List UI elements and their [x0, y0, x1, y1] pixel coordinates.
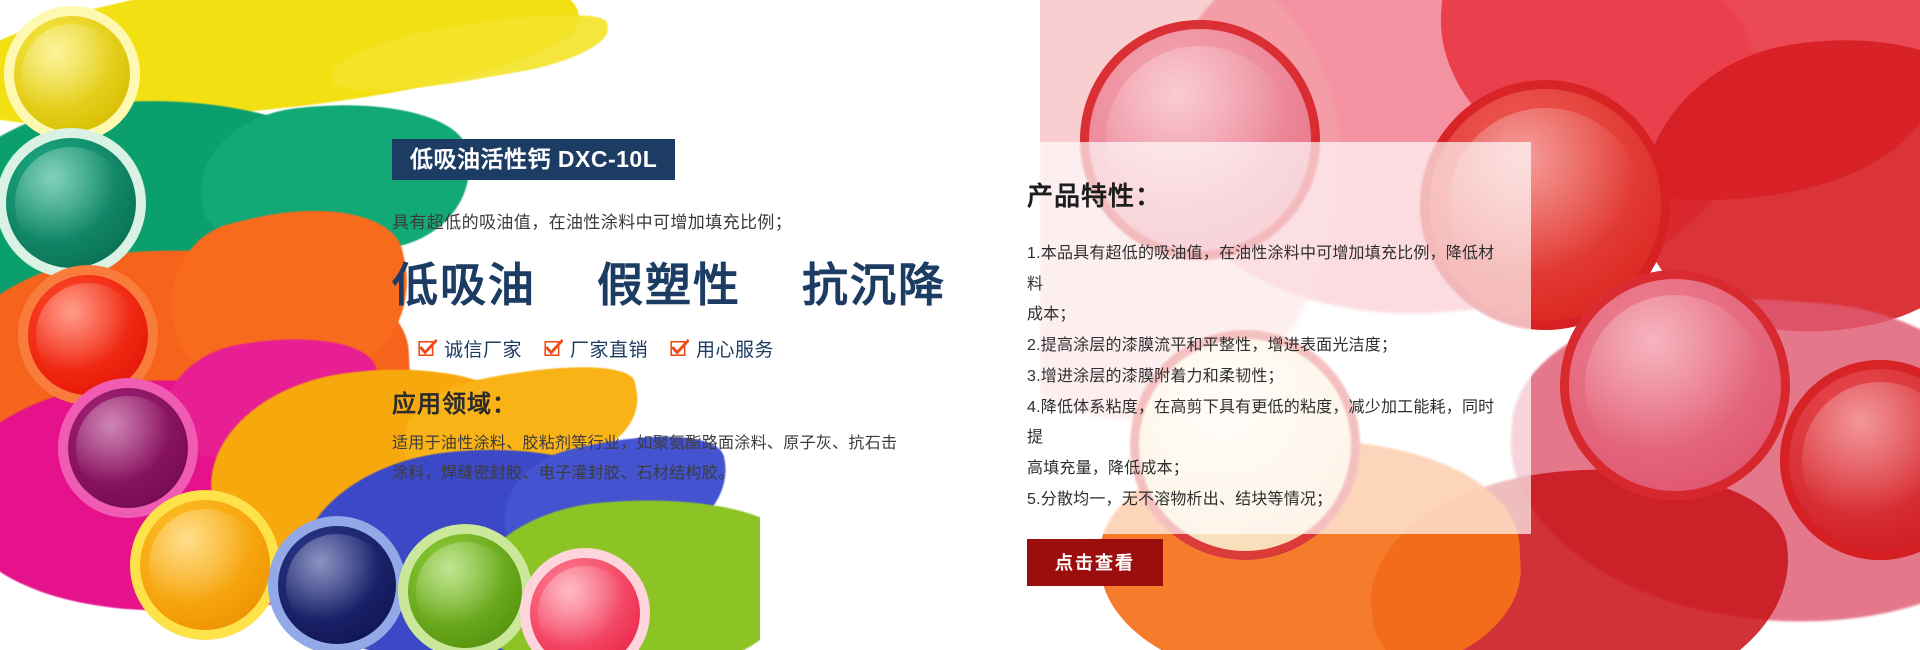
panel-list-item: 4.降低体系粘度，在高剪下具有更低的粘度，减少加工能耗，同时提	[1027, 393, 1495, 454]
panel-list-item: 1.本品具有超低的吸油值，在油性涂料中可增加填充比例，降低材料	[1027, 239, 1495, 300]
product-headline: 低吸油 假塑性 抗沉降	[392, 249, 952, 315]
check-box-icon	[544, 339, 563, 358]
paint-can-red	[28, 275, 148, 395]
product-title-badge: 低吸油活性钙 DXC-10L	[392, 139, 675, 180]
product-copy-block: 低吸油活性钙 DXC-10L 具有超低的吸油值，在油性涂料中可增加填充比例； 低…	[392, 139, 952, 488]
trust-feature-label: 诚信厂家	[444, 335, 522, 362]
headline-part-1: 低吸油	[392, 260, 536, 311]
product-features-panel: 产品特性： 1.本品具有超低的吸油值，在油性涂料中可增加填充比例，降低材料 成本…	[989, 142, 1531, 534]
product-banner: 低吸油活性钙 DXC-10L 具有超低的吸油值，在油性涂料中可增加填充比例； 低…	[0, 0, 1920, 650]
trust-feature-label: 厂家直销	[570, 335, 648, 362]
paint-can-amber	[140, 500, 270, 630]
trust-feature-item: 用心服务	[670, 335, 774, 362]
application-section-title: 应用领域：	[392, 384, 952, 419]
application-section-body: 适用于油性涂料、胶粘剂等行业，如聚氨酯路面涂料、原子灰、抗石击 涂料，焊缝密封胶…	[392, 429, 902, 488]
panel-list-item: 3.增进涂层的漆膜附着力和柔韧性；	[1027, 362, 1495, 393]
paint-can-yellow	[14, 16, 130, 132]
panel-title: 产品特性：	[1027, 176, 1495, 213]
headline-part-3: 抗沉降	[802, 260, 946, 311]
application-line-1: 适用于油性涂料、胶粘剂等行业，如聚氨酯路面涂料、原子灰、抗石击	[392, 429, 902, 459]
paint-can-green	[6, 138, 136, 268]
trust-feature-label: 用心服务	[696, 335, 774, 362]
application-line-2: 涂料，焊缝密封胶、电子灌封胶、石材结构胶。	[392, 459, 902, 489]
headline-part-2: 假塑性	[597, 260, 741, 311]
panel-list-item: 成本；	[1027, 300, 1495, 331]
check-box-icon	[418, 339, 437, 358]
panel-list-item: 2.提高涂层的漆膜流平和平整性，增进表面光洁度；	[1027, 331, 1495, 362]
panel-list-item: 5.分散均一，无不溶物析出、结块等情况；	[1027, 485, 1495, 516]
trust-feature-item: 诚信厂家	[418, 335, 522, 362]
panel-feature-list: 1.本品具有超低的吸油值，在油性涂料中可增加填充比例，降低材料 成本； 2.提高…	[1027, 239, 1495, 515]
view-details-button[interactable]: 点击查看	[1027, 539, 1163, 586]
trust-feature-list: 诚信厂家 厂家直销 用心服务	[418, 335, 952, 362]
paint-dish-rose-mid	[1560, 270, 1790, 500]
panel-content: 产品特性： 1.本品具有超低的吸油值，在油性涂料中可增加填充比例，降低材料 成本…	[989, 142, 1531, 586]
panel-list-item: 高填充量，降低成本；	[1027, 454, 1495, 485]
product-subline: 具有超低的吸油值，在油性涂料中可增加填充比例；	[392, 208, 952, 233]
check-box-icon	[670, 339, 689, 358]
paint-can-navy	[278, 526, 396, 644]
paint-can-lime	[408, 534, 522, 648]
trust-feature-item: 厂家直销	[544, 335, 648, 362]
paint-can-purple	[68, 388, 188, 508]
